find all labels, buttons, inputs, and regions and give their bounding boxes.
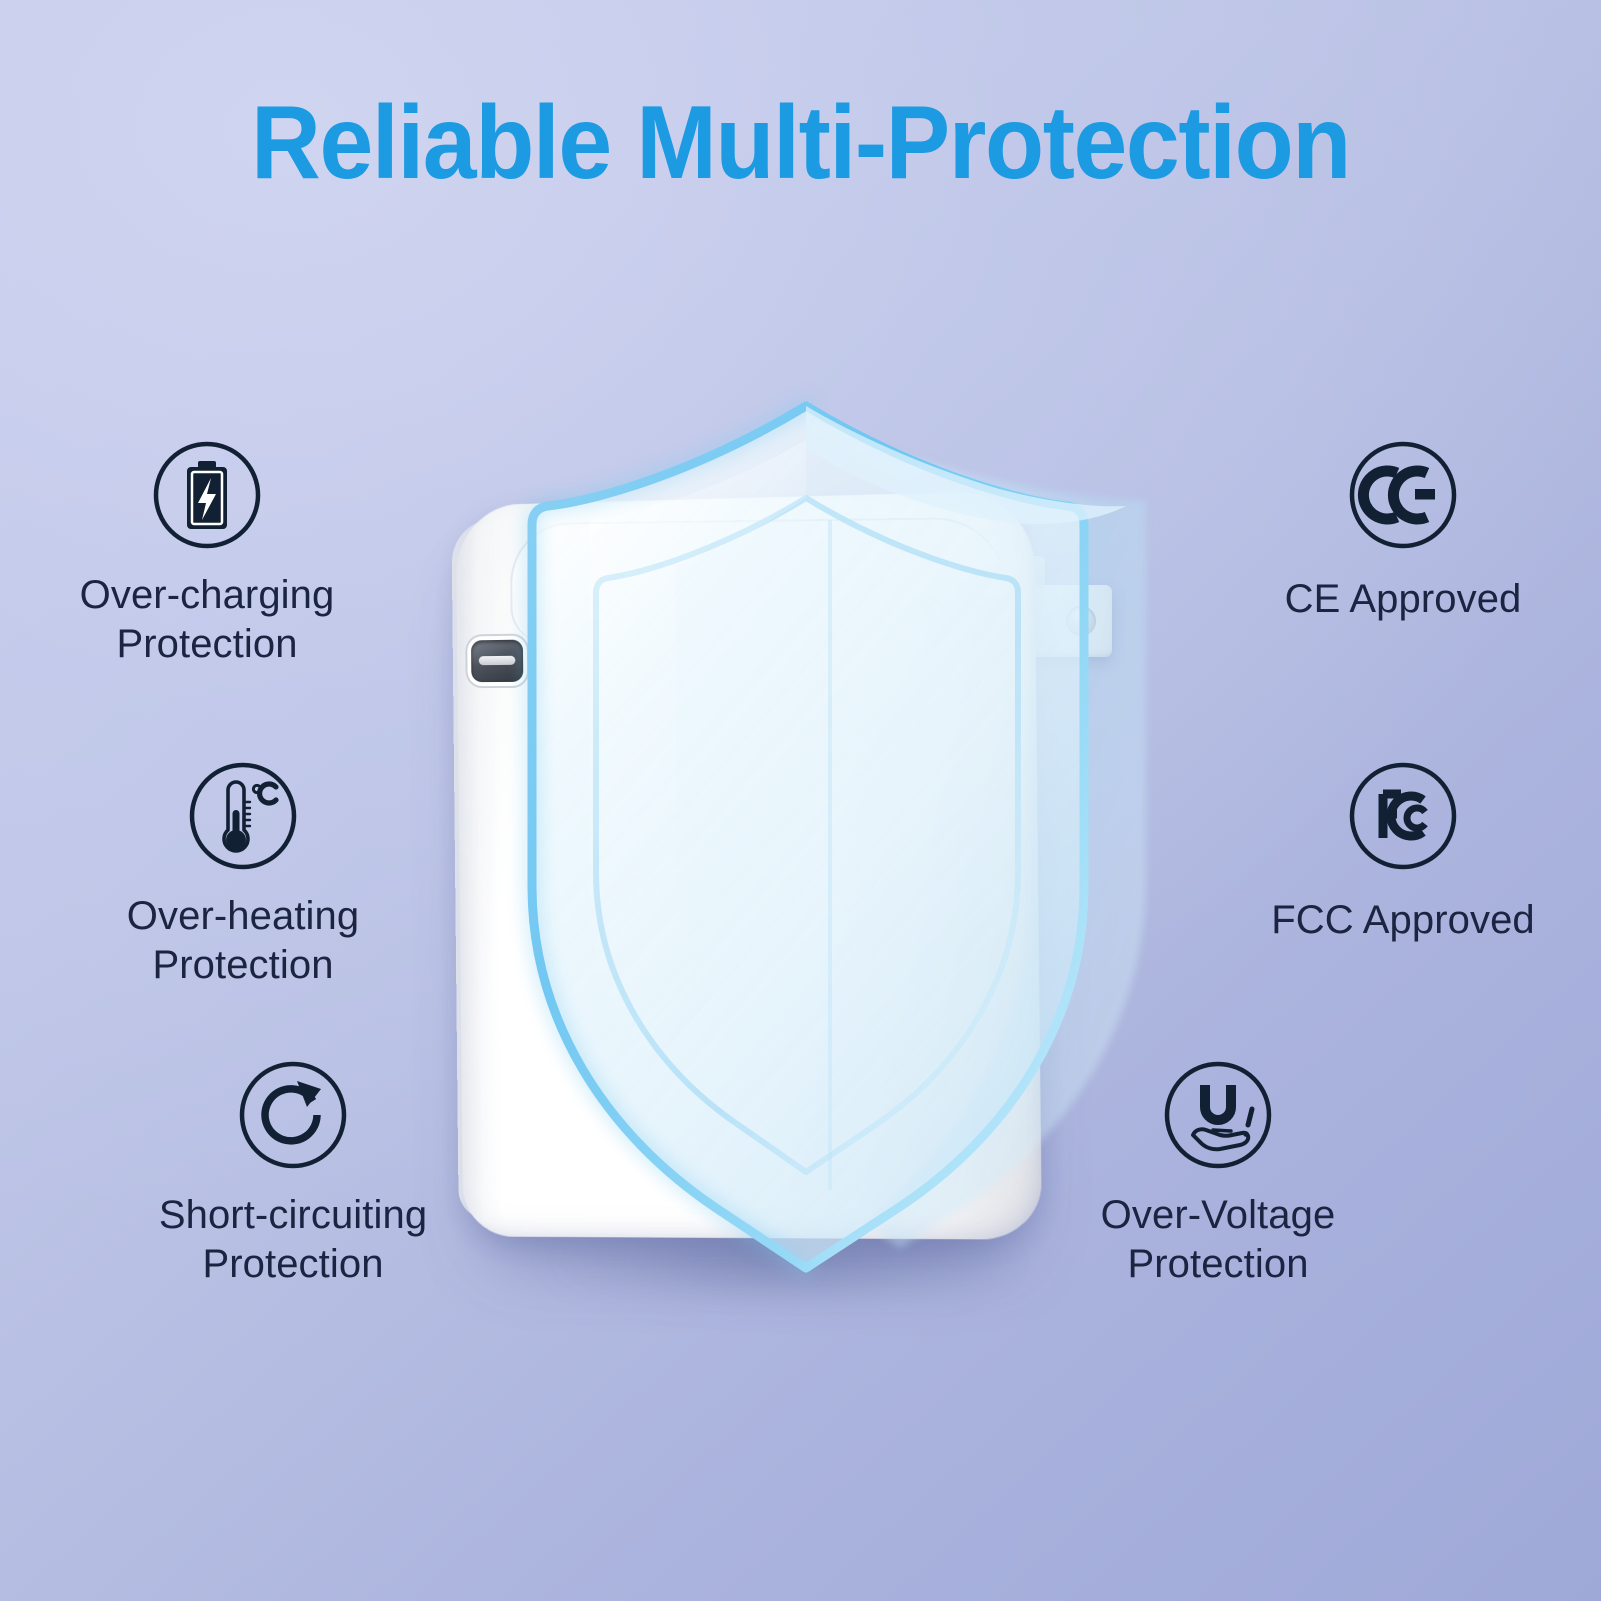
icon-slot — [7, 437, 407, 553]
icon-slot — [1203, 437, 1601, 553]
feature-over-charging: Over-charging Protection — [7, 437, 407, 669]
feature-caption: Over-charging Protection — [7, 571, 407, 669]
feature-ce-approved: CE Approved — [1203, 437, 1601, 624]
thermometer-celsius-icon — [185, 758, 301, 874]
circular-arrow-icon — [235, 1057, 351, 1173]
icon-slot — [93, 1057, 493, 1173]
page-title: Reliable Multi-Protection — [56, 88, 1545, 198]
prong-blade — [1019, 556, 1045, 600]
hand-voltage-warning-icon — [1160, 1057, 1276, 1173]
fcc-mark-icon — [1345, 758, 1461, 874]
charger-body — [456, 490, 1042, 1239]
icon-slot — [1018, 1057, 1418, 1173]
feature-over-voltage: Over-Voltage Protection — [1018, 1057, 1418, 1289]
infographic-canvas: Reliable Multi-Protection — [0, 0, 1601, 1601]
feature-caption: Short-circuiting Protection — [93, 1191, 493, 1289]
shield-sheen — [590, 440, 806, 1068]
feature-caption-line1: FCC Approved — [1271, 898, 1535, 942]
prong-hole — [1066, 606, 1096, 636]
feature-caption-line1: Over-Voltage — [1101, 1193, 1336, 1237]
feature-caption-line1: Short-circuiting — [159, 1193, 427, 1237]
usb-c-port-bar — [479, 656, 516, 665]
feature-caption-line1: Over-charging — [80, 573, 335, 617]
icon-slot — [1203, 758, 1601, 874]
feature-caption: FCC Approved — [1203, 896, 1601, 945]
prong-stem — [1016, 600, 1032, 800]
battery-bolt-icon — [149, 437, 265, 553]
feature-caption-line1: Over-heating — [127, 894, 359, 938]
shield-inner-outline — [596, 498, 1018, 1172]
shield-top-lip — [806, 406, 1126, 524]
usb-c-port-icon — [471, 640, 523, 683]
feature-caption: Over-Voltage Protection — [1018, 1191, 1418, 1289]
charger-top-seam — [510, 517, 1007, 644]
feature-caption: CE Approved — [1203, 575, 1601, 624]
shield-edge-glow — [532, 406, 806, 1268]
shield-outer-body — [532, 406, 1084, 1268]
charger-drop-shadow — [470, 1200, 1090, 1320]
icon-slot — [43, 758, 443, 874]
ce-mark-icon — [1345, 437, 1461, 553]
feature-fcc-approved: FCC Approved — [1203, 758, 1601, 945]
feature-caption-line1: CE Approved — [1285, 577, 1522, 621]
prong-plate — [1028, 585, 1112, 657]
feature-over-heating: Over-heating Protection — [43, 758, 443, 990]
feature-short-circuiting: Short-circuiting Protection — [93, 1057, 493, 1289]
feature-caption: Over-heating Protection — [43, 892, 443, 990]
feature-caption-line2: Protection — [1018, 1240, 1418, 1289]
feature-caption-line2: Protection — [93, 1240, 493, 1289]
feature-caption-line2: Protection — [7, 620, 407, 669]
feature-caption-line2: Protection — [43, 941, 443, 990]
